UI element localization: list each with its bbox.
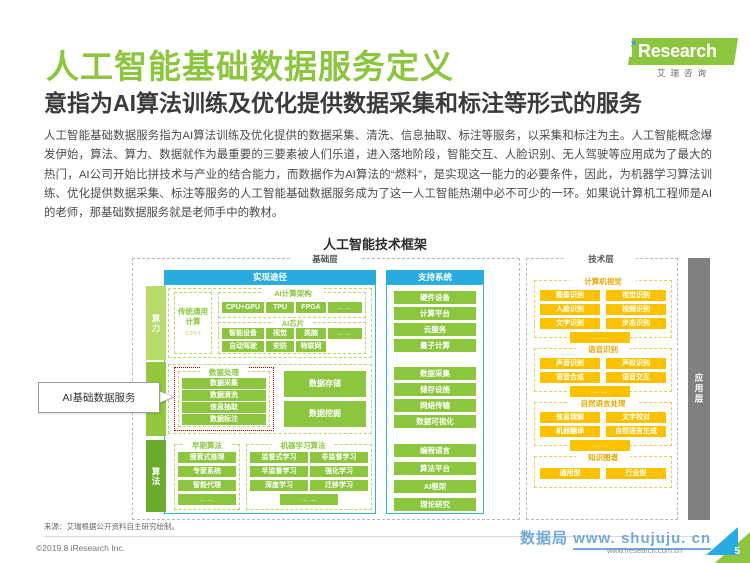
chip-industry-kg[interactable]: 行业型 [606,468,666,479]
chip-data-annotation[interactable]: 数据标注 [182,414,266,425]
chip-voice-recognition[interactable]: 声音识别 [540,358,600,369]
application-layer-bar: 应用层 [688,258,710,520]
chip-image-recognition[interactable]: 图像识别 [540,290,600,301]
chip-iot[interactable]: 物联网 [296,341,326,352]
chip-face-recognition[interactable]: 人脸识别 [540,304,600,315]
chip-cloud-service[interactable]: 云服务 [394,323,476,336]
chip-speech-interaction[interactable]: 语音交互 [606,372,666,383]
chip-vision[interactable]: 视觉 [266,328,294,339]
chip-machine-translation[interactable]: 机器翻译 [540,426,600,437]
callout-ai-data-service: AI基础数据服务 [38,382,160,413]
chip-video-recognition[interactable]: 视频识别 [606,304,666,315]
chip-expert-system[interactable]: 专家系统 [178,466,236,477]
chip-semi-supervised-learning[interactable]: 半监督学习 [250,466,308,477]
column-header-path: 实现途径 [164,270,376,284]
ml-algorithm-title: 机器学习算法 [272,440,334,451]
chip-smart-device[interactable]: 智能设备 [222,328,264,339]
chip-cpu-gpu[interactable]: CPU+GPU [222,302,264,313]
chip-quantum-compute[interactable]: 量子计算 [394,339,476,352]
column-header-support: 支持系统 [386,270,484,284]
chip-intelligent-agent[interactable]: 智能代理 [178,480,236,491]
chip-autonomous-driving[interactable]: 自动驾驶 [222,341,264,352]
ai-architecture-title: AI计算架构 [262,288,324,299]
chip-programming-language[interactable]: 编程语言 [394,444,476,457]
logo-chinese-name: 艾瑞咨询 [630,67,738,79]
row-label-compute: 算力 [146,286,166,360]
chip-tpu[interactable]: TPU [266,302,294,313]
chip-brain-like[interactable]: 类脑 [296,328,326,339]
chip-supervised-learning[interactable]: 监督式学习 [250,452,308,463]
chip-data-storage[interactable]: 数据存储 [284,371,366,397]
chip-unsupervised-learning[interactable]: 非监督学习 [310,452,368,463]
chip-visual-recognition[interactable]: 视觉识别 [606,290,666,301]
chip-security[interactable]: 安防 [266,341,294,352]
chip-hardware-device[interactable]: 硬件设备 [394,291,476,304]
traditional-compute-sub: (CPU) [185,329,200,339]
chip-speech-synthesis[interactable]: 语音合成 [540,372,600,383]
page-title: 人工智能基础数据服务定义 [46,40,454,88]
corner-decoration [696,523,750,563]
chip-network-transfer[interactable]: 网络传输 [394,399,476,412]
chip-storage-facility[interactable]: 储存设施 [394,383,476,396]
technology-layer-label: 技术层 [566,253,636,265]
speech-title: 语音识别 [576,344,630,355]
chip-data-collection[interactable]: 数据采集 [182,378,266,389]
page-subtitle: 意指为AI算法训练及优化提供数据采集和标注等形式的服务 [44,84,642,118]
chip-compute-platform[interactable]: 计算平台 [394,307,476,320]
chip-support-data-collection[interactable]: 数据采集 [394,367,476,380]
chip-deep-learning[interactable]: 深度学习 [250,480,308,491]
chip-ai-framework[interactable]: AI框架 [394,480,476,493]
chip-algorithm-platform[interactable]: 算法平台 [394,462,476,475]
logo-wordmark: Research [638,39,738,64]
watermark-url: www. shujuju. cn [573,530,711,550]
copyright-text: ©2019.8 iResearch Inc. [36,543,125,553]
chip-reinforcement-learning[interactable]: 强化学习 [310,466,368,477]
ai-tech-framework-diagram: 基础层 技术层 应用层 实现途径 支持系统 算力 传统通用计算 (CPU) AI… [132,258,732,526]
kg-title: 知识图谱 [576,452,630,463]
chip-speech-more[interactable]: …… [570,386,630,397]
intro-paragraph: 人工智能基础数据服务指为AI算法训练及优化提供的数据采集、清洗、信息抽取、标注等… [44,127,712,223]
chip-nl-generation[interactable]: 自然语言生成 [606,426,666,437]
chip-info-extraction[interactable]: 信息抽取 [182,402,266,413]
chip-info-understanding[interactable]: 信息理解 [540,412,600,423]
chip-search-reasoning[interactable]: 搜索式推理 [178,452,236,463]
watermark-name: 数据局 [520,530,568,547]
chip-text-recognition[interactable]: 文字识别 [540,318,600,329]
chip-cv-more[interactable]: …… [570,332,630,343]
chip-data-cleaning[interactable]: 数据清洗 [182,390,266,401]
chip-ml-more[interactable]: …… [280,494,338,505]
logo-dot-icon [632,41,636,45]
chip-fpga[interactable]: FPGA [296,302,326,313]
chip-nlp-more[interactable]: …… [570,440,630,451]
cv-title: 计算机视觉 [570,276,636,287]
chip-general-kg[interactable]: 通用型 [540,468,600,479]
chip-text-proofreading[interactable]: 文字校对 [606,412,666,423]
row-label-algorithm: 算法 [146,440,166,512]
chip-data-mining[interactable]: 数据挖掘 [284,401,366,427]
chip-gait-recognition[interactable]: 步态识别 [606,318,666,329]
nlp-title: 自然语言处理 [568,398,638,409]
chip-data-visualization[interactable]: 数据可视化 [394,415,476,428]
traditional-compute-card: 传统通用计算 (CPU) [174,292,212,354]
data-processing-title: 数据处理 [200,367,248,378]
source-note: 来源：艾瑞根据公开资料自主研究绘制。 [44,521,179,532]
callout-label: AI基础数据服务 [63,390,136,405]
chip-arch-more[interactable]: …… [328,302,362,313]
chart-title: 人工智能技术框架 [0,234,750,253]
chip-early-more[interactable]: …… [178,494,236,505]
traditional-compute-label: 传统通用计算 [175,307,211,327]
chip-chip-more[interactable]: …… [328,328,362,339]
page-header: 人工智能基础数据服务定义 意指为AI算法训练及优化提供数据采集和标注等形式的服务… [0,0,750,120]
chip-transfer-learning[interactable]: 迁移学习 [310,480,368,491]
callout-tail [159,391,173,403]
page-number: 5 [734,546,740,557]
early-algorithm-title: 早期算法 [184,440,230,451]
foundation-layer-label: 基础层 [290,253,360,265]
chip-theory-research[interactable]: 理论研究 [394,498,476,511]
corner-triangle-blue [706,527,738,555]
iresearch-logo: i Research 艾瑞咨询 [616,38,736,84]
chip-voiceprint-recognition[interactable]: 声纹识别 [606,358,666,369]
watermark: 数据局 www. shujuju. cn [520,527,711,548]
